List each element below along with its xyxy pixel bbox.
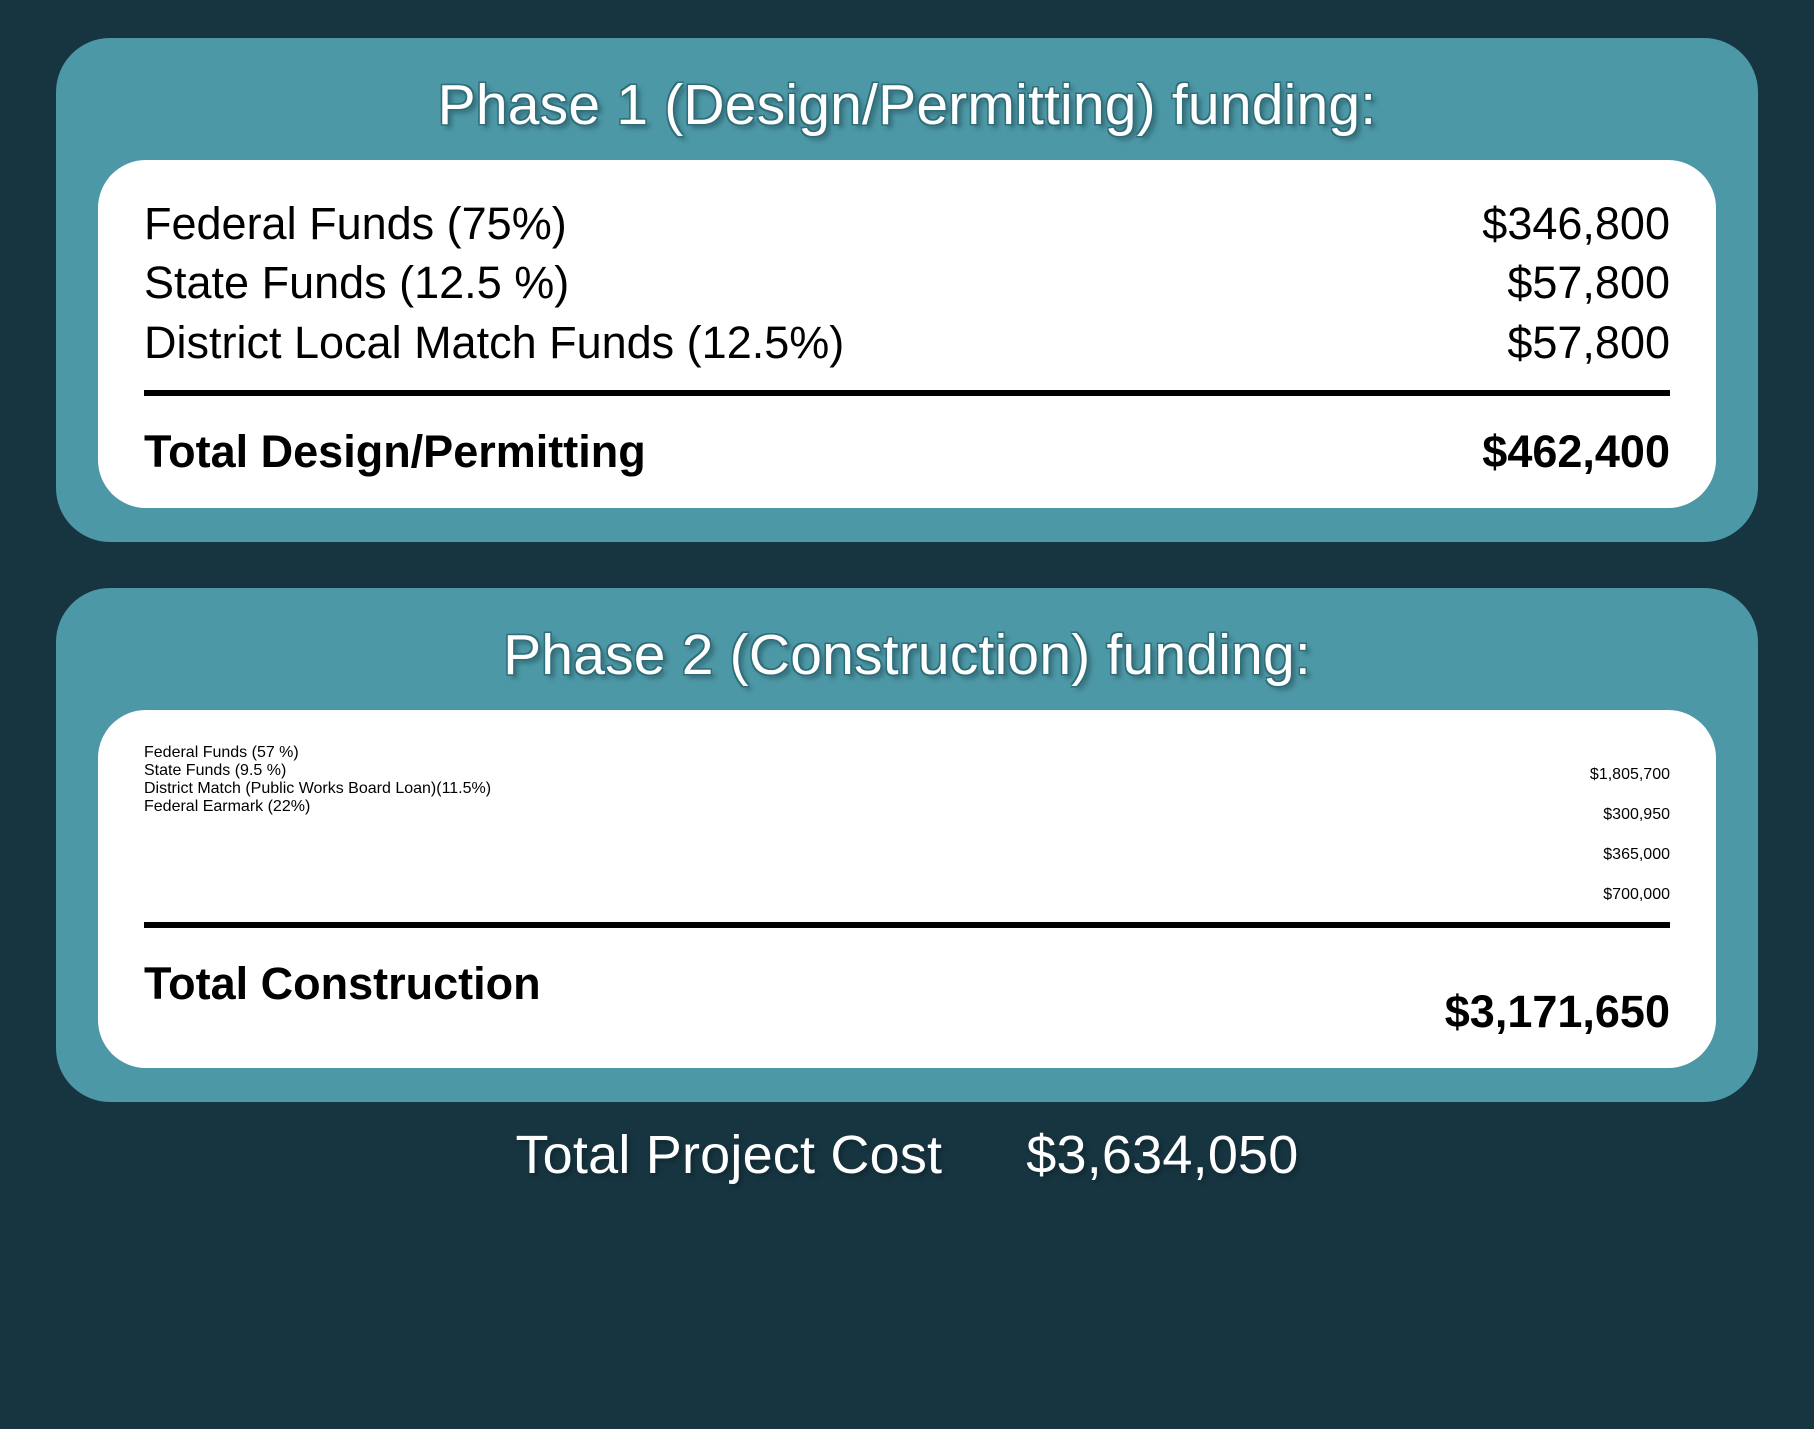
line-item-label: District Local Match Funds (12.5%)	[144, 313, 844, 372]
table-row: Federal Funds (75%) $346,800	[144, 194, 1670, 253]
phase-2-total-row: Total Construction $3,171,650	[144, 928, 1670, 1038]
phase-1-total-amount: $462,400	[1482, 426, 1670, 478]
phase-2-line-items: Federal Funds (57 %) State Funds (9.5 %)…	[144, 744, 1670, 904]
line-item-amount: $346,800	[1482, 194, 1670, 253]
phase-1-total-label: Total Design/Permitting	[144, 426, 646, 478]
line-item-amount: $57,800	[1507, 313, 1670, 372]
phase-2-total-amount: $3,171,650	[1445, 958, 1670, 1038]
line-item-amount: $700,000	[1603, 864, 1670, 904]
line-item-amount: $57,800	[1507, 253, 1670, 312]
line-item-amount: $365,000	[1603, 824, 1670, 864]
phase-1-title: Phase 1 (Design/Permitting) funding:	[98, 60, 1716, 160]
phase-1-card: Phase 1 (Design/Permitting) funding: Fed…	[56, 38, 1758, 542]
phase-2-panel: Federal Funds (57 %) State Funds (9.5 %)…	[98, 710, 1716, 1068]
phase-2-amount-column: $1,805,700 $300,950 $365,000 $700,000	[1590, 744, 1670, 904]
line-item-label: State Funds (12.5 %)	[144, 253, 569, 312]
phase-1-panel: Federal Funds (75%) $346,800 State Funds…	[98, 160, 1716, 508]
table-row: State Funds (12.5 %) $57,800	[144, 253, 1670, 312]
phase-2-title: Phase 2 (Construction) funding:	[98, 610, 1716, 710]
funding-summary-graphic: Phase 1 (Design/Permitting) funding: Fed…	[0, 0, 1814, 1429]
total-project-cost-row: Total Project Cost $3,634,050	[56, 1102, 1758, 1186]
line-item-label: Federal Earmark (22%)	[144, 798, 491, 816]
line-item-amount: $300,950	[1603, 784, 1670, 824]
line-item-amount: $1,805,700	[1590, 744, 1670, 784]
phase-2-label-column: Federal Funds (57 %) State Funds (9.5 %)…	[144, 744, 491, 816]
phase-2-total-label: Total Construction	[144, 958, 541, 1010]
table-row: District Local Match Funds (12.5%) $57,8…	[144, 313, 1670, 372]
phase-1-total-row: Total Design/Permitting $462,400	[144, 396, 1670, 478]
phase-2-card: Phase 2 (Construction) funding: Federal …	[56, 588, 1758, 1102]
line-item-label: District Match (Public Works Board Loan)…	[144, 780, 491, 798]
phase-1-line-items: Federal Funds (75%) $346,800 State Funds…	[144, 194, 1670, 372]
line-item-label: Federal Funds (75%)	[144, 194, 567, 253]
line-item-label: State Funds (9.5 %)	[144, 762, 491, 780]
line-item-label: Federal Funds (57 %)	[144, 744, 491, 762]
total-project-cost-label: Total Project Cost	[515, 1124, 942, 1186]
total-project-cost-amount: $3,634,050	[1026, 1124, 1298, 1186]
